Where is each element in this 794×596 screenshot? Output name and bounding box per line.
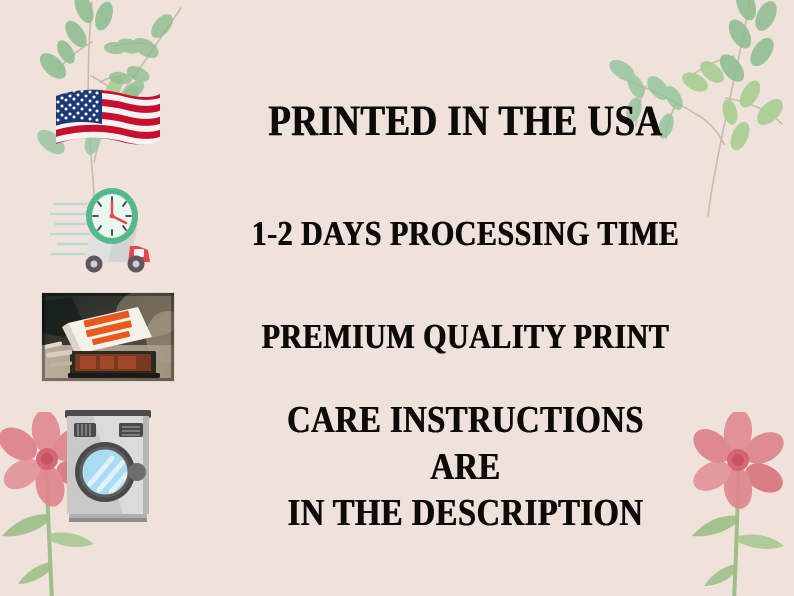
text-cell-processing-time: 1-2 DAYS PROCESSING TIME	[215, 214, 794, 253]
product-info-graphic: PRINTED IN THE USA	[0, 0, 794, 596]
usa-flag-icon	[52, 84, 164, 160]
icon-cell-usa-flag	[0, 84, 215, 160]
icon-cell-delivery-truck	[0, 184, 215, 284]
icon-cell-print-photo	[0, 293, 215, 381]
headline-processing-time: 1-2 DAYS PROCESSING TIME	[250, 214, 681, 253]
screen-printing-photo-illustration	[42, 293, 174, 381]
feature-row-premium-quality: PREMIUM QUALITY PRINT	[0, 288, 794, 386]
feature-row-care-instructions: CARE INSTRUCTIONS ARE IN THE DESCRIPTION	[0, 392, 794, 542]
text-cell-premium-quality: PREMIUM QUALITY PRINT	[215, 317, 794, 356]
headline-printed-in-usa: PRINTED IN THE USA	[250, 98, 681, 146]
washing-machine-icon	[57, 406, 159, 528]
icon-cell-washing-machine	[0, 406, 215, 528]
feature-row-printed-in-usa: PRINTED IN THE USA	[0, 70, 794, 174]
text-cell-printed-in-usa: PRINTED IN THE USA	[215, 98, 794, 146]
headline-care-line-2: IN THE DESCRIPTION	[250, 490, 681, 536]
fast-delivery-truck-clock-icon	[50, 184, 166, 284]
screen-printing-photo	[42, 293, 174, 381]
headline-care-line-1: CARE INSTRUCTIONS ARE	[250, 397, 681, 490]
feature-row-processing-time: 1-2 DAYS PROCESSING TIME	[0, 182, 794, 286]
headline-care-instructions: CARE INSTRUCTIONS ARE IN THE DESCRIPTION	[250, 397, 681, 536]
text-cell-care-instructions: CARE INSTRUCTIONS ARE IN THE DESCRIPTION	[215, 397, 794, 536]
headline-premium-quality: PREMIUM QUALITY PRINT	[250, 317, 681, 356]
